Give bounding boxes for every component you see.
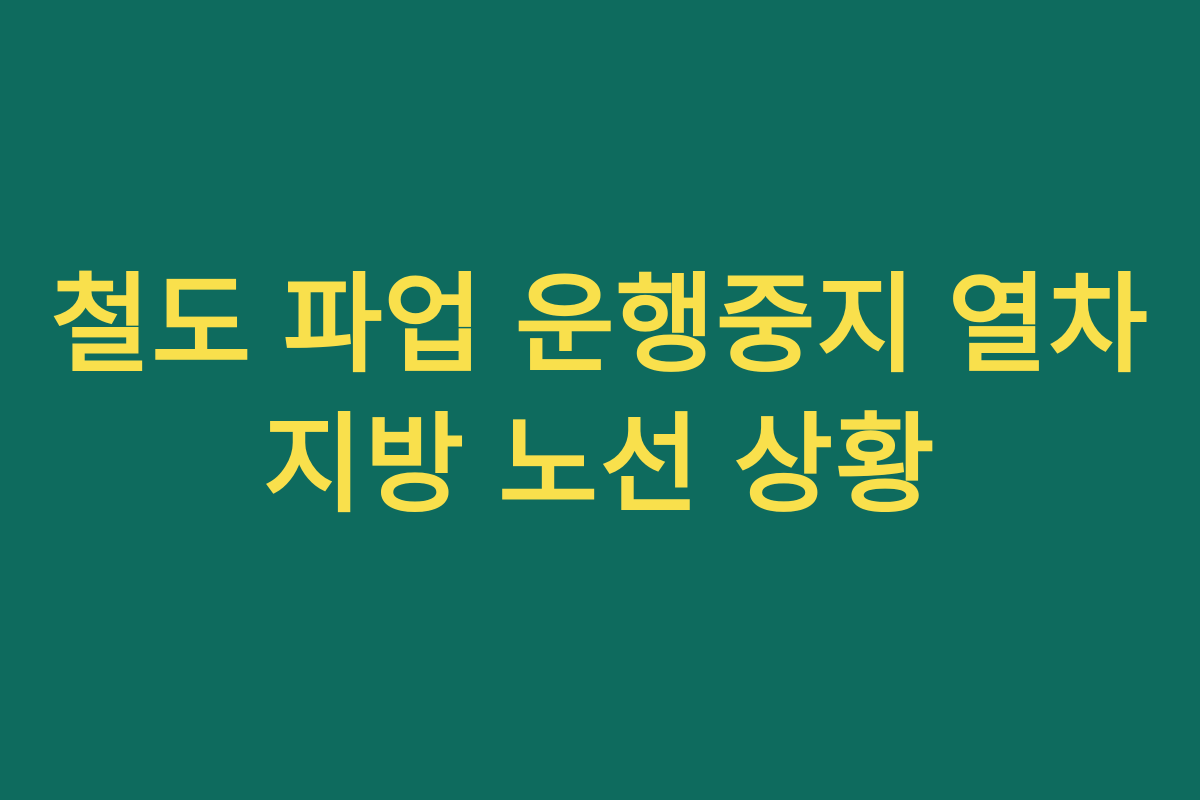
headline-line-1: 철도 파업 운행중지 열차 xyxy=(40,255,1160,395)
headline-line-2: 지방 노선 상황 xyxy=(40,395,1160,535)
headline-text-block: 철도 파업 운행중지 열차 지방 노선 상황 xyxy=(0,255,1200,535)
headline-card: 철도 파업 운행중지 열차 지방 노선 상황 xyxy=(0,0,1200,800)
